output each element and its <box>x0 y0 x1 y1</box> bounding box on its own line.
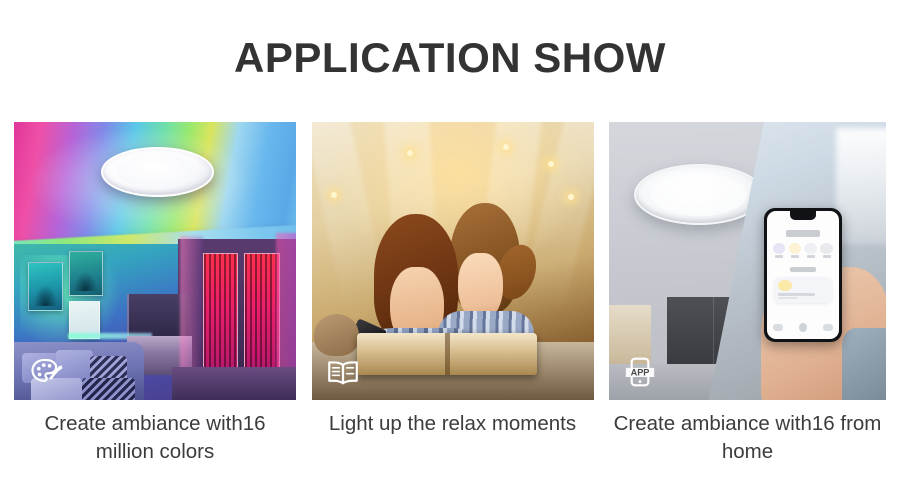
caption-relax-moments: Light up the relax moments <box>312 410 594 438</box>
wall-art-2 <box>69 251 103 295</box>
photo-family-tent <box>312 122 594 400</box>
panel-app-control[interactable]: APP Create ambiance with16 from home <box>609 122 886 482</box>
wall-art-1 <box>28 262 63 311</box>
svg-text:APP: APP <box>631 367 650 377</box>
photo-rgb-living-room <box>14 122 296 400</box>
open-book <box>357 333 537 375</box>
app-title-placeholder <box>786 230 820 236</box>
open-book-icon <box>323 352 363 392</box>
ceiling-light-fixture <box>101 147 214 197</box>
ceiling-light-fixture <box>634 164 764 225</box>
app-device-card <box>774 277 833 302</box>
device-status-placeholder <box>778 297 798 299</box>
floor <box>172 367 296 400</box>
panel-rgb-ambiance[interactable]: Create ambiance with16 million colors <box>14 122 296 482</box>
nav-item <box>823 324 833 331</box>
teddy-bear <box>314 314 359 356</box>
sleeve <box>842 328 886 400</box>
nav-item <box>773 324 783 331</box>
cushion <box>82 378 136 400</box>
application-show-page: APPLICATION SHOW <box>0 0 900 497</box>
window-right <box>244 253 281 375</box>
phone-notch <box>790 211 816 220</box>
panel-row: Create ambiance with16 million colors <box>14 122 886 482</box>
caption-app-control: Create ambiance with16 from home <box>609 410 886 467</box>
palette-icon <box>25 352 65 392</box>
nav-item-center <box>799 323 807 332</box>
app-phone-icon: APP <box>620 352 660 392</box>
device-bulb-icon <box>778 280 792 291</box>
panel-relax-moments[interactable]: Light up the relax moments <box>312 122 594 482</box>
caption-rgb-ambiance: Create ambiance with16 million colors <box>14 410 296 467</box>
app-shortcut-row <box>773 243 833 261</box>
app-section-heading <box>790 267 816 272</box>
app-shortcut-icon <box>773 243 786 254</box>
window-light <box>836 128 886 245</box>
app-shortcut-icon <box>820 243 833 254</box>
string-light <box>331 192 337 198</box>
app-nav-bar <box>773 322 833 333</box>
app-shortcut-icon <box>789 243 802 254</box>
photo-app-control: APP <box>609 122 886 400</box>
smartphone <box>764 208 842 341</box>
device-name-placeholder <box>778 293 814 295</box>
page-title: APPLICATION SHOW <box>0 34 900 82</box>
app-shortcut-icon <box>804 243 817 254</box>
window-left <box>203 253 238 375</box>
phone-screen <box>767 211 839 338</box>
